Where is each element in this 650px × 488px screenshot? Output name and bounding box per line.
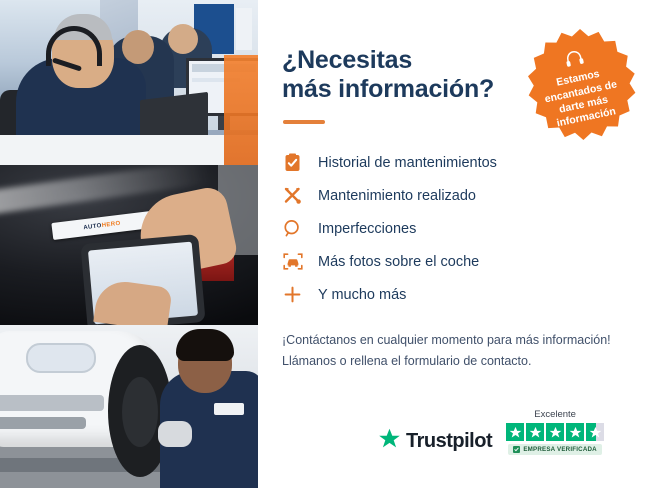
feature-item-more-photos: Más fotos sobre el coche [282,245,626,278]
car-inspection-ruler-photo: AUTOHERO [0,165,258,325]
title-divider [283,120,325,124]
tools-icon [282,185,303,206]
mechanic-hair [176,329,234,361]
feature-label: Y mucho más [318,287,406,303]
background-agent-2-head [168,24,198,54]
desk-decor [0,135,258,165]
trustpilot-star-icon [378,428,401,455]
ruler-brand-text: AUTOHERO [83,220,121,231]
feature-label: Historial de mantenimientos [318,155,497,171]
info-banner: AUTOHERO ¿Ne [0,0,650,488]
background-agent-1-head [122,30,154,64]
headline-line-2: más información? [282,75,494,103]
star-filled-1 [506,423,524,441]
poster-secondary-decor [236,8,252,50]
tire-inner-decor [122,377,158,447]
contact-text: ¡Contáctanos en cualquier momento para m… [282,330,626,371]
lower-grille-decor [0,417,86,429]
star-filled-4 [566,423,584,441]
contact-line-1: ¡Contáctanos en cualquier momento para m… [282,333,611,347]
headlight-decor [26,343,96,373]
car-lift-decor [0,458,130,472]
clipboard-check-icon [282,152,303,173]
call-center-agents-photo [0,0,258,165]
rating-label: Excelente [534,409,576,420]
promo-badge: Estamos encantados de darte más informac… [519,27,641,149]
star-rating [506,423,604,441]
star-filled-3 [546,423,564,441]
trustpilot-wordmark: Trustpilot [406,430,492,453]
bumper-grille-decor [0,395,104,411]
feature-label: Más fotos sobre el coche [318,254,479,270]
mechanic-shirt-logo [214,403,244,415]
badge-content: Estamos encantados de darte más informac… [508,16,650,161]
trustpilot-rating: Excelente [506,409,604,455]
feature-item-imperfections: Imperfecciones [282,212,626,245]
car-scan-icon [282,251,303,272]
orange-panel-decor [224,55,258,165]
contact-line-2: Llámanos o rellena el formulario de cont… [282,354,531,368]
star-partial-5 [586,423,604,441]
verified-text: EMPRESA VERIFICADA [523,446,597,453]
feature-list: Historial de mantenimientos Mantenimient… [282,146,626,311]
magnifier-icon [282,218,303,239]
mechanic-glove [158,421,192,447]
badge-text: Estamos encantados de darte más informac… [530,62,635,135]
headset-icon [563,49,586,73]
feature-item-maintenance-done: Mantenimiento realizado [282,179,626,212]
star-filled-2 [526,423,544,441]
verified-badge: EMPRESA VERIFICADA [508,444,602,455]
trustpilot-block[interactable]: Trustpilot Excelente [378,409,604,455]
plus-icon [282,284,303,305]
content-panel: ¿Necesitas más información? Historial de… [258,0,650,488]
headline-line-1: ¿Necesitas [282,46,412,74]
mechanic-wheel-photo [0,325,258,488]
photo-strip: AUTOHERO [0,0,258,488]
feature-item-much-more: Y mucho más [282,278,626,311]
trustpilot-logo[interactable]: Trustpilot [378,428,492,455]
feature-label: Mantenimiento realizado [318,188,476,204]
check-icon [513,446,520,453]
feature-label: Imperfecciones [318,221,416,237]
